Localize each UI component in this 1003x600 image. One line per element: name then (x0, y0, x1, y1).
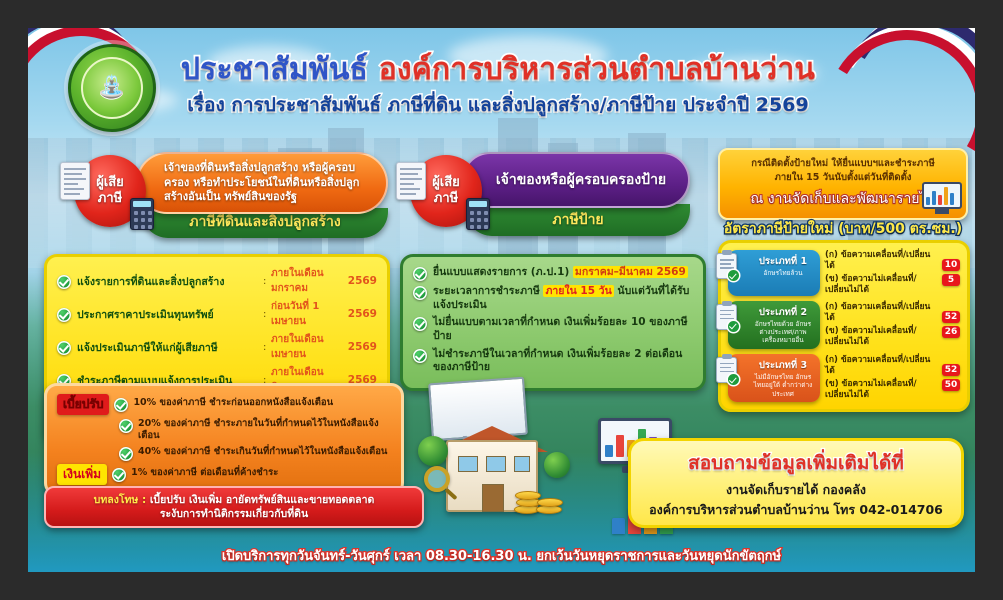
penalty-text: 1% ของค่าภาษี ต่อเดือนที่ค้างชำระ (131, 467, 278, 479)
sign-taxpayer-badge: ผู้เสีย ภาษี (400, 154, 492, 228)
organization-emblem: ⛲ (68, 44, 156, 132)
sign-rate-table: ประเภทที่ 1 อักษรไทยล้วน (ก) ข้อความเคลื… (718, 240, 970, 412)
sign-taxpayer-pill: เจ้าของหรือผู้ครอบครองป้าย (462, 152, 690, 208)
tree-icon (418, 436, 448, 466)
rate-table-row: ประเภทที่ 1 อักษรไทยล้วน (ก) ข้อความเคลื… (728, 250, 960, 296)
schedule-row: แจ้งประเมินภาษีให้แก่ผู้เสียภาษี : ภายใน… (57, 332, 377, 362)
calculator-icon (466, 198, 490, 230)
rate-values: 10 5 (942, 250, 960, 296)
schedule-colon: : (263, 342, 271, 353)
land-taxpayer-badge: ผู้เสีย ภาษี (64, 154, 156, 228)
schedule-colon: : (263, 276, 271, 287)
title-red-part: องค์การบริหารส่วนตำบลบ้านว่าน (379, 52, 815, 87)
schedule-item-name: แจ้งรายการที่ดินและสิ่งปลูกสร้าง (77, 273, 263, 290)
penalty-fine-row: 20% ของค่าภาษี ชำระภายในวันที่กำหนดไว้ใน… (57, 418, 391, 443)
legal-line1: บทลงโทษ : เบี้ยปรับ เงินเพิ่ม อายัดทรัพย… (56, 493, 412, 507)
rate-desc-a: (ก) ข้อความเคลื่อนที่/เปลี่ยนได้ (825, 250, 937, 271)
rate-desc-b: (ข) ข้อความไม่เคลื่อนที่/เปลี่ยนไม่ได้ (825, 274, 937, 295)
service-hours-footer: เปิดบริการทุกวันจันทร์-วันศุกร์ เวลา 08.… (28, 545, 975, 566)
sign-rule-text: ยื่นแบบแสดงรายการ (ภ.ป.1) มกราคม–มีนาคม … (433, 266, 688, 280)
schedule-item-value: ภายในเดือน เมษายน (271, 332, 343, 362)
header-title-block: ประชาสัมพันธ์ องค์การบริหารส่วนตำบลบ้านว… (178, 54, 818, 120)
land-badge-line2: ภาษี (98, 191, 122, 207)
sign-taxpayer-description: เจ้าของหรือผู้ครอบครองป้าย (496, 171, 666, 190)
contact-org-line2: องค์การบริหารส่วนตำบลบ้านว่าน โทร 042-01… (649, 501, 943, 519)
land-taxpayer-description: เจ้าของที่ดินหรือสิ่งปลูกสร้าง หรือผู้คร… (164, 161, 370, 206)
rate-value-a: 52 (942, 311, 960, 323)
emblem-inner-seal: ⛲ (81, 57, 143, 119)
rate-desc-a: (ก) ข้อความเคลื่อนที่/เปลี่ยนได้ (825, 355, 937, 376)
schedule-item-name: ประกาศราคาประเมินทุนทรัพย์ (77, 306, 263, 323)
check-icon (114, 398, 128, 412)
schedule-item-value: ก่อนวันที่ 1 เมษายน (271, 299, 343, 329)
penalty-fine-row: 40% ของค่าภาษี ชำระเกินวันที่กำหนดไว้ในห… (57, 446, 391, 461)
sign-rule-row: ระยะเวลาการชำระภาษี ภายใน 15 วัน นับแต่ว… (413, 285, 693, 312)
penalty-text: 20% ของค่าภาษี ชำระภายในวันที่กำหนดไว้ใน… (138, 418, 391, 443)
land-badge-line1: ผู้เสีย (96, 175, 124, 191)
rate-category-title: ประเภทที่ 3 (750, 358, 816, 373)
check-icon (413, 267, 427, 281)
schedule-row: แจ้งรายการที่ดินและสิ่งปลูกสร้าง : ภายใน… (57, 266, 377, 296)
legal-text1: เบี้ยปรับ เงินเพิ่ม อายัดทรัพย์สินและขาย… (146, 494, 374, 506)
sign-rule-pre: ยื่นแบบแสดงรายการ (ภ.ป.1) (433, 266, 573, 278)
rate-desc-b: (ข) ข้อความไม่เคลื่อนที่/เปลี่ยนไม่ได้ (825, 326, 937, 347)
fine-tag: เบี้ยปรับ (57, 394, 109, 415)
sign-rule-highlight: ภายใน 15 วัน (543, 285, 613, 297)
penalty-text: 40% ของค่าภาษี ชำระเกินวันที่กำหนดไว้ในห… (138, 446, 387, 458)
taxpayer-sign-banner: ภาษีป้าย เจ้าของหรือผู้ครอบครองป้าย ผู้เ… (400, 152, 700, 238)
rate-value-a: 52 (942, 364, 960, 376)
rate-category-title: ประเภทที่ 2 (750, 305, 816, 320)
temple-glyph-icon: ⛲ (98, 76, 125, 99)
sign-rule-text: ไม่ยื่นแบบตามเวลาที่กำหนด เงินเพิ่มร้อยล… (433, 316, 693, 343)
check-icon (112, 468, 126, 482)
rate-descriptions: (ก) ข้อความเคลื่อนที่/เปลี่ยนได้ (ข) ข้อ… (825, 354, 937, 402)
sign-rule-text: ไม่ชำระภาษีในเวลาที่กำหนด เงินเพิ่มร้อยล… (433, 348, 693, 375)
sign-rule-text: ระยะเวลาการชำระภาษี ภายใน 15 วัน นับแต่ว… (433, 285, 693, 312)
tree-icon (544, 452, 570, 478)
rate-category-3: ประเภทที่ 3 ไม่มีอักษรไทย อักษรไทยอยู่ใต… (728, 354, 820, 402)
magnifier-icon (424, 466, 450, 492)
notice-line1: กรณีติดตั้งป้ายใหม่ ให้ยื่นแบบฯและชำระภา… (728, 157, 958, 171)
rate-values: 52 50 (942, 354, 960, 402)
legal-line2: ระงับการทำนิติกรรมเกี่ยวกับที่ดิน (56, 507, 412, 521)
penalty-fine-row: เบี้ยปรับ 10% ของค่าภาษี ชำระก่อนออกหนัง… (57, 394, 391, 415)
legal-penalty-bar: บทลงโทษ : เบี้ยปรับ เงินเพิ่ม อายัดทรัพย… (44, 486, 424, 528)
sign-rule-row: ไม่ชำระภาษีในเวลาที่กำหนด เงินเพิ่มร้อยล… (413, 348, 693, 375)
clipboard-check-icon (716, 253, 737, 279)
check-icon (413, 349, 427, 363)
rate-value-b: 50 (942, 379, 960, 391)
document-icon (396, 162, 426, 200)
sign-badge-line2: ภาษี (434, 191, 458, 207)
sign-rule-pre: ระยะเวลาการชำระภาษี (433, 285, 543, 297)
contact-box: สอบถามข้อมูลเพิ่มเติมได้ที่ งานจัดเก็บรา… (628, 438, 964, 528)
schedule-row: ประกาศราคาประเมินทุนทรัพย์ : ก่อนวันที่ … (57, 299, 377, 329)
rate-category-1: ประเภทที่ 1 อักษรไทยล้วน (728, 250, 820, 296)
rate-value-b: 5 (942, 274, 960, 286)
contact-org-line1: งานจัดเก็บรายได้ กองคลัง (726, 481, 866, 499)
check-icon (57, 341, 71, 355)
check-icon (413, 286, 427, 300)
check-icon (119, 447, 133, 461)
sign-rule-row: ไม่ยื่นแบบตามเวลาที่กำหนด เงินเพิ่มร้อยล… (413, 316, 693, 343)
rate-values: 52 26 (942, 301, 960, 349)
sign-rule-row: ยื่นแบบแสดงรายการ (ภ.ป.1) มกราคม–มีนาคม … (413, 266, 693, 281)
schedule-colon: : (263, 309, 271, 320)
rate-category-subtitle: อักษรไทยล้วน (750, 269, 816, 277)
rate-descriptions: (ก) ข้อความเคลื่อนที่/เปลี่ยนได้ (ข) ข้อ… (825, 301, 937, 349)
poster-subtitle: เรื่อง การประชาสัมพันธ์ ภาษีที่ดิน และสิ… (178, 90, 818, 120)
rate-value-b: 26 (942, 326, 960, 338)
check-icon (57, 275, 71, 289)
rate-category-title: ประเภทที่ 1 (750, 254, 816, 269)
schedule-item-year: 2569 (343, 341, 377, 353)
rate-category-subtitle: อักษรไทยด้วย อักษรต่างประเทศ/ภาพ เครื่อง… (750, 320, 816, 345)
rate-table-row: ประเภทที่ 2 อักษรไทยด้วย อักษรต่างประเทศ… (728, 301, 960, 349)
land-taxpayer-pill: เจ้าของที่ดินหรือสิ่งปลูกสร้าง หรือผู้คร… (136, 152, 388, 214)
check-icon (57, 308, 71, 322)
schedule-item-year: 2569 (343, 308, 377, 320)
poster-canvas: ⛲ ประชาสัมพันธ์ องค์การบริหารส่วนตำบลบ้า… (28, 28, 975, 572)
rate-descriptions: (ก) ข้อความเคลื่อนที่/เปลี่ยนได้ (ข) ข้อ… (825, 250, 937, 296)
rate-desc-a: (ก) ข้อความเคลื่อนที่/เปลี่ยนได้ (825, 302, 937, 323)
legal-label: บทลงโทษ : (94, 494, 147, 506)
surcharge-tag: เงินเพิ่ม (57, 464, 107, 485)
rate-table-row: ประเภทที่ 3 ไม่มีอักษรไทย อักษรไทยอยู่ใต… (728, 354, 960, 402)
new-sign-notice-box: กรณีติดตั้งป้ายใหม่ ให้ยื่นแบบฯและชำระภา… (718, 148, 968, 220)
sign-tax-tab: ภาษีป้าย (466, 204, 690, 236)
schedule-item-name: แจ้งประเมินภาษีให้แก่ผู้เสียภาษี (77, 339, 263, 356)
rate-desc-b: (ข) ข้อความไม่เคลื่อนที่/เปลี่ยนไม่ได้ (825, 379, 937, 400)
land-tax-tab-label: ภาษีที่ดินและสิ่งปลูกสร้าง (189, 211, 340, 233)
clipboard-check-icon (716, 304, 737, 330)
sign-tax-rules-panel: ยื่นแบบแสดงรายการ (ภ.ป.1) มกราคม–มีนาคม … (400, 254, 706, 391)
penalty-panel: เบี้ยปรับ 10% ของค่าภาษี ชำระก่อนออกหนัง… (44, 383, 404, 496)
contact-heading: สอบถามข้อมูลเพิ่มเติมได้ที่ (688, 448, 904, 478)
rate-table-title: อัตราภาษีป้ายใหม่ (บาท/500 ตร.ซม.) (718, 218, 968, 240)
document-icon (60, 162, 90, 200)
schedule-item-year: 2569 (343, 275, 377, 287)
sign-rule-highlight: มกราคม–มีนาคม 2569 (573, 266, 688, 278)
taxpayer-land-banner: ภาษีที่ดินและสิ่งปลูกสร้าง เจ้าของที่ดิน… (64, 152, 394, 238)
coins-icon (514, 480, 568, 514)
penalty-surcharge-row: เงินเพิ่ม 1% ของค่าภาษี ต่อเดือนที่ค้างช… (57, 464, 391, 485)
check-icon (413, 317, 427, 331)
schedule-item-value: ภายในเดือน มกราคม (271, 266, 343, 296)
clipboard-check-icon (716, 357, 737, 383)
sign-badge-line1: ผู้เสีย (432, 175, 460, 191)
rate-value-a: 10 (942, 259, 960, 271)
check-icon (119, 419, 133, 433)
rate-category-2: ประเภทที่ 2 อักษรไทยด้วย อักษรต่างประเทศ… (728, 301, 820, 349)
poster-title: ประชาสัมพันธ์ องค์การบริหารส่วนตำบลบ้านว… (178, 54, 818, 86)
monitor-chart-icon (922, 182, 962, 216)
rate-category-subtitle: ไม่มีอักษรไทย อักษรไทยอยู่ใต้ ต่ำกว่าต่า… (750, 373, 816, 398)
sign-tax-tab-label: ภาษีป้าย (552, 209, 603, 231)
penalty-text: 10% ของค่าภาษี ชำระก่อนออกหนังสือแจ้งเตื… (133, 397, 333, 409)
calculator-icon (130, 198, 154, 230)
title-blue-part: ประชาสัมพันธ์ (181, 52, 368, 87)
